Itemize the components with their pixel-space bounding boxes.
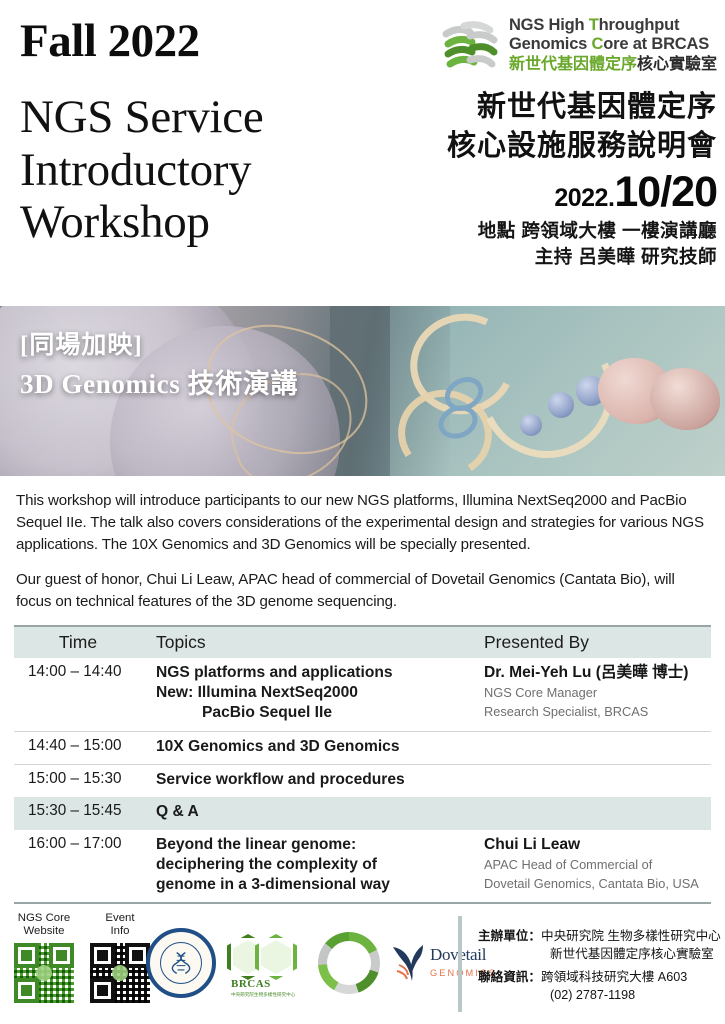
brcas-logo: BRCAS 中央研究院生物多樣性研究中心	[225, 932, 309, 994]
organizer-line-1: 中央研究院 生物多樣性研究中心	[541, 928, 721, 946]
qr-finder-top-left	[14, 943, 39, 968]
intro-text: This workshop will introduce participant…	[0, 476, 725, 613]
table-row: 14:00 – 14:40 NGS platforms and applicat…	[14, 658, 711, 731]
qr-caption-line-1: NGS Core	[14, 912, 74, 925]
presenter-role-1: APAC Head of Commercial of	[484, 857, 711, 874]
event-month-day: 10/20	[614, 168, 717, 216]
ngs-htg-core-logo-icon	[318, 932, 380, 994]
presenter-role-2: Dovetail Genomics, Cantata Bio, USA	[484, 876, 711, 893]
academia-sinica-dna-icon	[160, 942, 202, 984]
chinese-title-line-1: 新世代基因體定序	[417, 90, 717, 125]
brcas-chinese-subtitle: 中央研究院生物多樣性研究中心	[231, 992, 295, 998]
poster-footer: NGS Core Website Event Info	[0, 906, 725, 1024]
intro-paragraph-1: This workshop will introduce participant…	[16, 490, 709, 557]
main-title: NGS Service Introductory Workshop	[20, 91, 408, 249]
presenter-role-1: NGS Core Manager	[484, 685, 711, 702]
row-topic: Q & A	[142, 797, 472, 829]
ngs-core-logo: NGS High Throughput Genomics Core at BRC…	[417, 14, 717, 76]
row-topic-line-1: NGS platforms and applications	[156, 664, 393, 681]
banner-nucleosome-tertiary-icon	[520, 414, 542, 436]
table-row: 16:00 – 17:00 Beyond the linear genome: …	[14, 830, 711, 903]
event-date: 2022.10/20	[417, 171, 717, 214]
qr-caption: NGS Core Website	[14, 912, 74, 939]
schedule-table: Time Topics Presented By 14:00 – 14:40 N…	[14, 627, 711, 902]
row-time: 14:00 – 14:40	[14, 658, 142, 731]
qr-center-logo	[112, 965, 128, 981]
schedule-header-row: Time Topics Presented By	[14, 627, 711, 658]
row-time: 14:40 – 15:00	[14, 731, 142, 764]
qr-finder-bottom-left	[14, 978, 39, 1003]
row-time: 15:30 – 15:45	[14, 797, 142, 829]
logo-chinese-line: 新世代基因體定序核心實驗室	[509, 55, 717, 74]
row-topic-line-2: New: Illumina NextSeq2000	[156, 684, 358, 701]
qr-finder-bottom-left	[90, 978, 115, 1003]
row-topic: Beyond the linear genome: deciphering th…	[142, 830, 472, 903]
row-topic-line-1: Beyond the linear genome:	[156, 836, 356, 853]
row-presenter: Dr. Mei-Yeh Lu (呂美曄 博士) NGS Core Manager…	[472, 658, 711, 731]
banner-protein-blob-secondary-icon	[650, 368, 720, 430]
contact-label: 聯絡資訊：	[478, 969, 541, 987]
qr-finder-top-left	[90, 943, 115, 968]
row-presenter: Chui Li Leaw APAC Head of Commercial of …	[472, 830, 711, 903]
feature-banner: [同場加映] 3D Genomics 技術演講	[0, 306, 725, 476]
table-row: 15:00 – 15:30 Service workflow and proce…	[14, 765, 711, 798]
intro-paragraph-2: Our guest of honor, Chui Li Leaw, APAC h…	[16, 569, 709, 613]
chinese-title-line-2: 核心設施服務說明會	[417, 129, 717, 164]
main-title-line-3: Workshop	[20, 196, 408, 249]
row-topic: NGS platforms and applications New: Illu…	[142, 658, 472, 731]
ngs-dna-circle-icon	[440, 14, 502, 76]
contact-line-1: 跨領域科技研究大樓 A603	[541, 969, 687, 987]
row-topic-line-3: PacBio Sequel IIe	[156, 703, 472, 723]
banner-tagline: [同場加映]	[20, 330, 298, 361]
presenter-role-2: Research Specialist, BRCAS	[484, 704, 711, 721]
organizer-row: 主辦單位： 中央研究院 生物多樣性研究中心	[478, 928, 721, 946]
row-topic-line-2: deciphering the complexity of	[156, 856, 377, 873]
row-topic-line-3: genome in a 3-dimensional way	[156, 876, 390, 893]
contact-row: 聯絡資訊： 跨領域科技研究大樓 A603	[478, 969, 721, 987]
qr-code-icon[interactable]	[90, 943, 150, 1003]
row-topic: Service workflow and procedures	[142, 765, 472, 798]
presenter-name: Chui Li Leaw	[484, 835, 711, 855]
event-year: 2022.	[554, 184, 614, 212]
row-presenter	[472, 797, 711, 829]
dovetail-bird-icon	[389, 941, 427, 985]
qr-event-info[interactable]: Event Info	[90, 912, 150, 1003]
column-header-time: Time	[14, 627, 142, 658]
row-presenter	[472, 731, 711, 764]
sponsor-logo-group: BRCAS 中央研究院生物多樣性研究中心 Dovetail GE	[146, 928, 497, 998]
organizer-block: 主辦單位： 中央研究院 生物多樣性研究中心 新世代基因體定序核心實驗室	[478, 928, 721, 964]
qr-caption-line-2: Info	[90, 925, 150, 938]
logo-line-2: Genomics Core at BRCAS	[509, 35, 717, 54]
event-host: 主持 呂美曄 研究技師	[417, 244, 717, 270]
contact-block: 聯絡資訊： 跨領域科技研究大樓 A603 (02) 2787-1198	[478, 969, 721, 1005]
ngs-htg-core-inner-icon	[333, 947, 365, 979]
table-row: 14:40 – 15:00 10X Genomics and 3D Genomi…	[14, 731, 711, 764]
academia-sinica-seal-icon	[146, 928, 216, 998]
row-presenter	[472, 765, 711, 798]
schedule-table-wrapper: Time Topics Presented By 14:00 – 14:40 N…	[14, 625, 711, 904]
qr-code-icon[interactable]	[14, 943, 74, 1003]
row-time: 16:00 – 17:00	[14, 830, 142, 903]
season-title: Fall 2022	[20, 18, 408, 65]
main-title-line-2: Introductory	[20, 144, 408, 197]
banner-text-block: [同場加映] 3D Genomics 技術演講	[20, 330, 298, 402]
main-title-line-1: NGS Service	[20, 91, 408, 144]
column-header-topics: Topics	[142, 627, 472, 658]
table-row: 15:30 – 15:45 Q & A	[14, 797, 711, 829]
qr-code-group: NGS Core Website Event Info	[14, 912, 150, 1003]
presenter-name: Dr. Mei-Yeh Lu (呂美曄 博士)	[484, 663, 711, 683]
column-header-presented-by: Presented By	[472, 627, 711, 658]
organizer-info: 主辦單位： 中央研究院 生物多樣性研究中心 新世代基因體定序核心實驗室 聯絡資訊…	[478, 928, 721, 1010]
qr-caption-line-2: Website	[14, 925, 74, 938]
row-topic: 10X Genomics and 3D Genomics	[142, 731, 472, 764]
contact-line-2: (02) 2787-1198	[478, 987, 721, 1005]
header-right-info: NGS High Throughput Genomics Core at BRC…	[417, 14, 717, 270]
qr-center-logo	[36, 965, 52, 981]
qr-finder-top-right	[49, 943, 74, 968]
brcas-hexagon-right-icon	[255, 934, 297, 980]
poster-root: Fall 2022 NGS Service Introductory Works…	[0, 0, 725, 1024]
banner-subject: 3D Genomics 技術演講	[20, 367, 298, 402]
organizer-line-2: 新世代基因體定序核心實驗室	[478, 946, 721, 964]
logo-text-block: NGS High Throughput Genomics Core at BRC…	[509, 16, 717, 73]
row-time: 15:00 – 15:30	[14, 765, 142, 798]
qr-caption: Event Info	[90, 912, 150, 939]
header-left-titles: Fall 2022 NGS Service Introductory Works…	[18, 18, 408, 249]
qr-ngs-core-website[interactable]: NGS Core Website	[14, 912, 74, 1003]
footer-divider	[458, 916, 462, 1012]
logo-line-1: NGS High Throughput	[509, 16, 717, 35]
brcas-wordmark: BRCAS	[231, 978, 271, 990]
poster-header: Fall 2022 NGS Service Introductory Works…	[0, 0, 725, 306]
academia-sinica-logo	[146, 928, 216, 998]
qr-caption-line-1: Event	[90, 912, 150, 925]
event-venue: 地點 跨領域大樓 一樓演講廳	[417, 218, 717, 244]
organizer-label: 主辦單位：	[478, 928, 541, 946]
banner-nucleosome-icon	[548, 392, 574, 418]
